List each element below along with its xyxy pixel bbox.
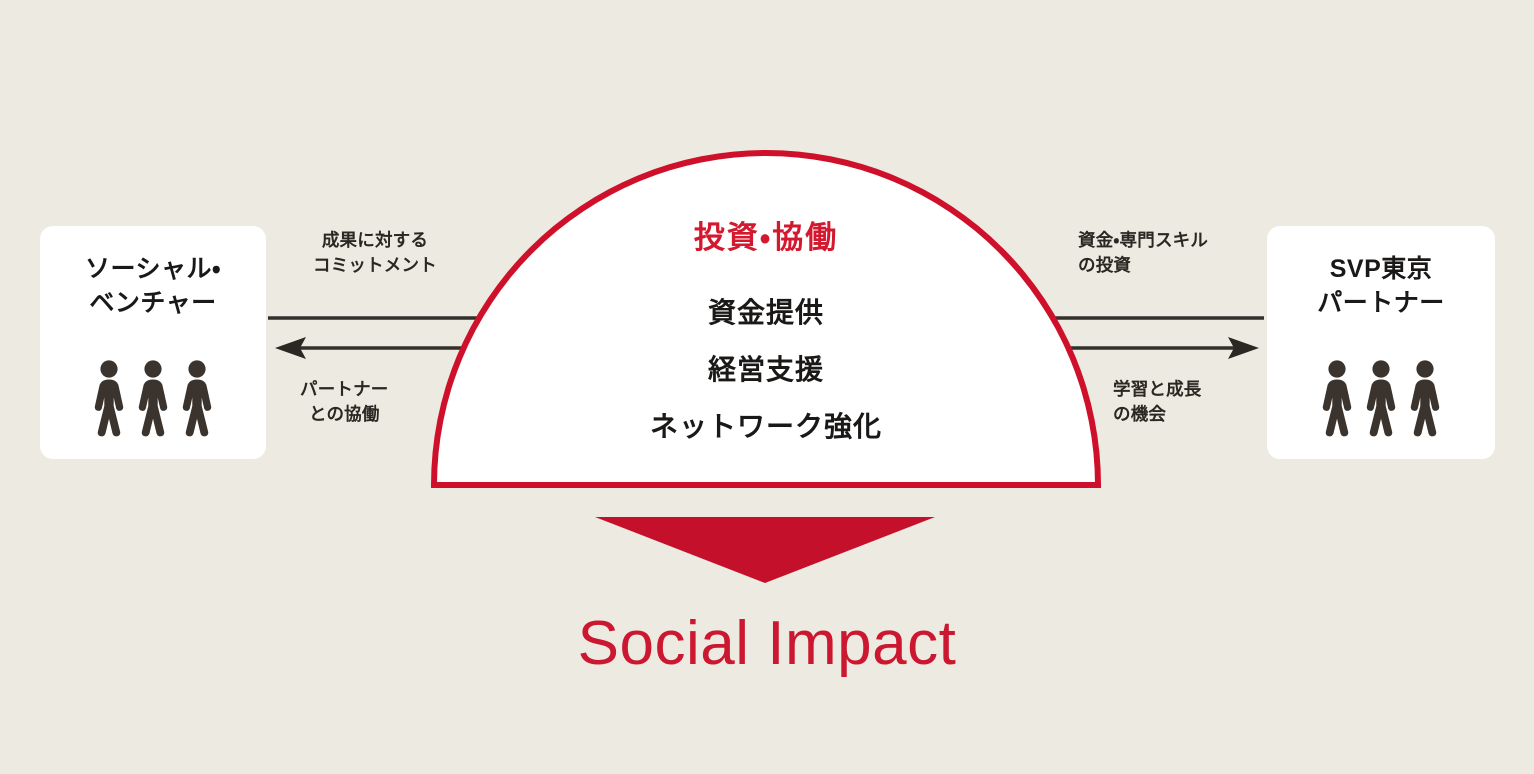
people-group-icon xyxy=(40,359,266,437)
person-icon xyxy=(1406,359,1444,437)
social-impact-diagram: ソーシャル・ ベンチャー SVP東京 パートナー xyxy=(0,0,1534,774)
flow-label-right-bottom: 学習と成長 の機会 xyxy=(1113,377,1202,427)
flow-label-right-top: 資金・専門スキル の投資 xyxy=(1078,228,1208,278)
social-impact-caption: Social Impact xyxy=(0,608,1534,679)
entity-title-social-venture: ソーシャル・ ベンチャー xyxy=(85,252,221,320)
person-icon xyxy=(90,359,128,437)
person-icon xyxy=(1318,359,1356,437)
people-group-icon xyxy=(1267,359,1495,437)
flow-label-left-top: 成果に対する コミットメント xyxy=(313,228,437,278)
person-icon xyxy=(134,359,172,437)
arrow-right-bottom xyxy=(1062,337,1259,359)
entity-title-svp-partner: SVP東京 パートナー xyxy=(1317,252,1445,320)
entity-box-social-venture[interactable]: ソーシャル・ ベンチャー xyxy=(40,226,266,459)
triangle-down-icon xyxy=(595,517,935,583)
center-dome-shape xyxy=(431,150,1101,488)
person-icon xyxy=(1362,359,1400,437)
flow-label-left-bottom: パートナー との協働 xyxy=(300,377,389,427)
arrow-left-bottom xyxy=(275,337,470,359)
entity-box-svp-partner[interactable]: SVP東京 パートナー xyxy=(1267,226,1495,459)
person-icon xyxy=(178,359,216,437)
